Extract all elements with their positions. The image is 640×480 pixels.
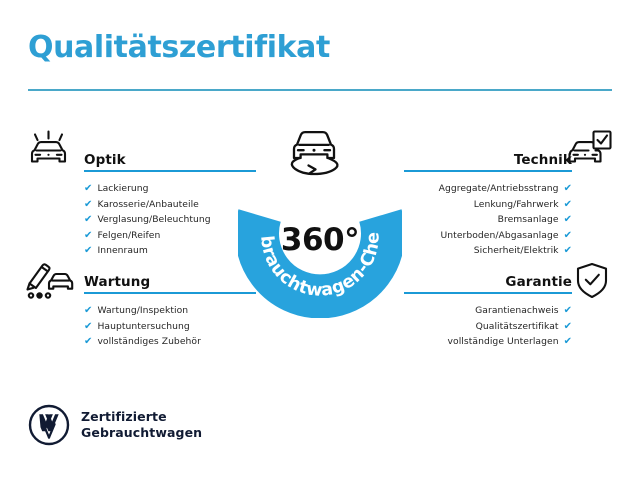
list-item-label: Wartung/Inspektion xyxy=(97,305,188,316)
check-icon: ✔ xyxy=(564,336,572,347)
list-item: Garantienachweis✔ xyxy=(404,303,572,319)
title-divider xyxy=(28,89,612,91)
section-optik: Optik ✔Lackierung ✔Karosserie/Anbauteile… xyxy=(84,146,256,259)
list-item-label: Qualitätszertifikat xyxy=(476,321,559,332)
section-title: Wartung xyxy=(84,274,150,290)
section-header: Optik xyxy=(84,146,256,172)
section-divider xyxy=(404,170,572,172)
list-item-label: Felgen/Reifen xyxy=(97,230,160,241)
list-item-label: Karosserie/Anbauteile xyxy=(97,199,198,210)
section-title: Technik xyxy=(514,152,572,168)
check-icon: ✔ xyxy=(84,199,92,210)
list-item: Qualitätszertifikat✔ xyxy=(404,319,572,335)
check-icon: ✔ xyxy=(564,245,572,256)
list-item: ✔vollständiges Zubehör xyxy=(84,334,256,350)
check-icon: ✔ xyxy=(84,230,92,241)
footer-brand: Zertifizierte Gebrauchtwagen xyxy=(28,404,202,446)
certificate-page: Qualitätszertifikat xyxy=(0,0,640,480)
footer-text: Zertifizierte Gebrauchtwagen xyxy=(81,409,202,441)
section-wartung: Wartung ✔Wartung/Inspektion ✔Hauptunters… xyxy=(84,268,256,350)
list-item: ✔Karosserie/Anbauteile xyxy=(84,197,256,213)
list-item: ✔Verglasung/Beleuchtung xyxy=(84,212,256,228)
list-item-label: Sicherheit/Elektrik xyxy=(474,245,559,256)
check-icon: ✔ xyxy=(84,214,92,225)
list-item: Aggregate/Antriebsstrang✔ xyxy=(404,181,572,197)
pen-service-book-car-icon xyxy=(22,258,74,306)
list-item-label: Bremsanlage xyxy=(498,214,559,225)
section-title: Garantie xyxy=(505,274,572,290)
check-icon: ✔ xyxy=(564,183,572,194)
car-front-checkbox-icon xyxy=(566,128,614,176)
list-item-label: vollständige Unterlagen xyxy=(448,336,559,347)
check-icon: ✔ xyxy=(84,321,92,332)
check-icon: ✔ xyxy=(84,245,92,256)
volkswagen-logo xyxy=(28,404,70,446)
check-icon: ✔ xyxy=(564,199,572,210)
footer-line-1: Zertifizierte xyxy=(81,409,202,425)
section-garantie: Garantie Garantienachweis✔ Qualitätszert… xyxy=(404,268,572,350)
list-item: ✔Wartung/Inspektion xyxy=(84,303,256,319)
check-icon: ✔ xyxy=(84,305,92,316)
list-item-label: Garantienachweis xyxy=(475,305,558,316)
section-header: Garantie xyxy=(404,268,572,294)
list-item: Lenkung/Fahrwerk✔ xyxy=(404,197,572,213)
section-title: Optik xyxy=(84,152,126,168)
section-divider xyxy=(84,292,256,294)
check-icon: ✔ xyxy=(564,321,572,332)
list-item: ✔Lackierung xyxy=(84,181,256,197)
section-technik: Technik Aggregate/Antriebsstrang✔ Lenkun… xyxy=(404,146,572,259)
list-item-label: Aggregate/Antriebsstrang xyxy=(439,183,559,194)
section-divider xyxy=(84,170,256,172)
checklist-technik: Aggregate/Antriebsstrang✔ Lenkung/Fahrwe… xyxy=(404,181,572,259)
list-item-label: Lackierung xyxy=(97,183,148,194)
checklist-garantie: Garantienachweis✔ Qualitätszertifikat✔ v… xyxy=(404,303,572,350)
badge-center-label: 360° xyxy=(238,225,402,256)
check-icon: ✔ xyxy=(564,230,572,241)
list-item-label: Innenraum xyxy=(97,245,147,256)
shield-check-icon xyxy=(572,260,612,306)
check-icon: ✔ xyxy=(84,336,92,347)
list-item-label: Unterboden/Abgasanlage xyxy=(441,230,559,241)
check-icon: ✔ xyxy=(84,183,92,194)
footer-line-2: Gebrauchtwagen xyxy=(81,425,202,441)
list-item: ✔Felgen/Reifen xyxy=(84,228,256,244)
section-header: Technik xyxy=(404,146,572,172)
list-item-label: Hauptuntersuchung xyxy=(97,321,189,332)
section-divider xyxy=(404,292,572,294)
list-item: Bremsanlage✔ xyxy=(404,212,572,228)
list-item-label: Lenkung/Fahrwerk xyxy=(474,199,559,210)
gebrauchtwagen-check-badge: Gebrauchtwagen-Check 360° xyxy=(238,122,402,318)
check-icon: ✔ xyxy=(564,214,572,225)
list-item: ✔Innenraum xyxy=(84,243,256,259)
list-item: Unterboden/Abgasanlage✔ xyxy=(404,228,572,244)
list-item: ✔Hauptuntersuchung xyxy=(84,319,256,335)
list-item-label: vollständiges Zubehör xyxy=(97,336,200,347)
sparkling-car-front-icon xyxy=(26,128,72,176)
section-header: Wartung xyxy=(84,268,256,294)
checklist-optik: ✔Lackierung ✔Karosserie/Anbauteile ✔Verg… xyxy=(84,181,256,259)
list-item: Sicherheit/Elektrik✔ xyxy=(404,243,572,259)
check-icon: ✔ xyxy=(564,305,572,316)
checklist-wartung: ✔Wartung/Inspektion ✔Hauptuntersuchung ✔… xyxy=(84,303,256,350)
list-item-label: Verglasung/Beleuchtung xyxy=(97,214,210,225)
list-item: vollständige Unterlagen✔ xyxy=(404,334,572,350)
page-title: Qualitätszertifikat xyxy=(28,33,330,63)
